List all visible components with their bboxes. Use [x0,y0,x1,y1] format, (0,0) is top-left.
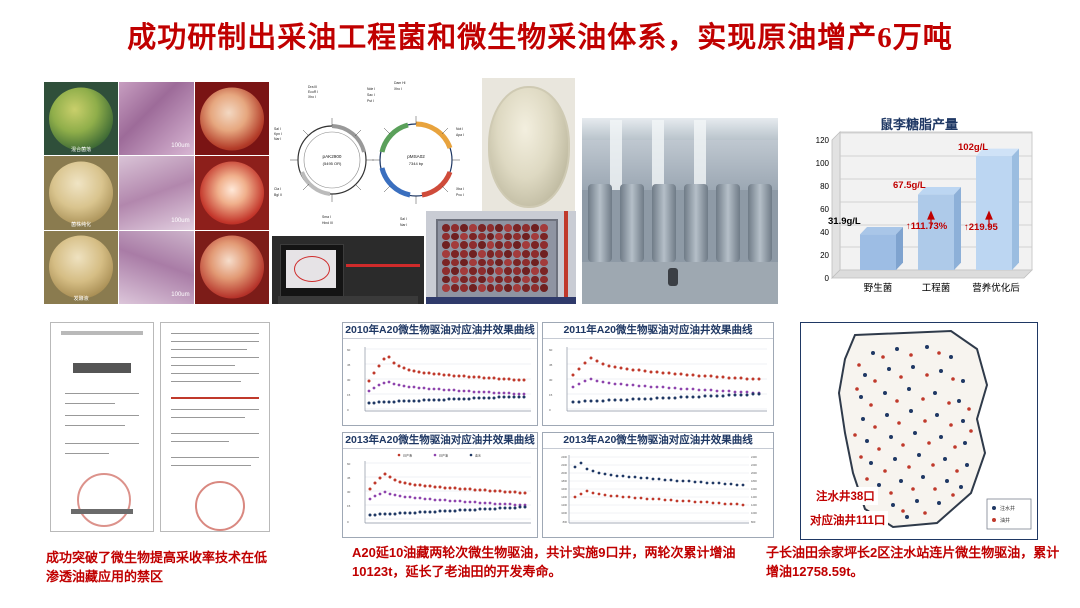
svg-text:15: 15 [549,393,553,397]
line-chart-title: 2010年A20微生物驱油对应油井效果曲线 [343,323,537,339]
svg-text:Bgl II: Bgl II [274,193,282,197]
svg-text:油井: 油井 [1000,517,1010,524]
svg-text:1600: 1600 [561,487,567,491]
svg-text:2000: 2000 [751,471,757,475]
svg-text:1000: 1000 [751,511,757,515]
certificate-documents [44,322,272,540]
svg-text:800: 800 [751,520,756,524]
svg-text:15: 15 [347,504,351,508]
svg-text:1000: 1000 [561,511,567,515]
svg-text:45: 45 [347,476,351,480]
well-performance-charts: 2010年A20微生物驱油对应油井效果曲线 [342,322,774,538]
scale-bar-label: 100um [171,292,189,298]
bar-value-label-0: 31.9g/L [828,216,861,227]
svg-text:pAK2900: pAK2900 [323,154,342,159]
svg-text:Apa I: Apa I [456,133,464,137]
svg-text:日产液: 日产液 [403,452,412,457]
plasmid-map-svg: pAK2900 (5495 OR) pMSA02 7344 bp Dra III… [272,68,478,234]
svg-text:30: 30 [549,378,553,382]
svg-text:1400: 1400 [561,495,567,499]
svg-text:EcoR I: EcoR I [308,90,318,94]
svg-text:Sal I: Sal I [400,217,407,221]
svg-text:含水: 含水 [475,452,481,457]
svg-text:20: 20 [820,251,829,260]
agar-plate-photo [482,78,575,216]
map-label-injection-wells: 注水井38口 [813,487,878,505]
svg-text:Dam HI: Dam HI [394,81,406,85]
svg-text:1800: 1800 [561,479,567,483]
svg-text:Xho I: Xho I [394,87,402,91]
line-chart-2010: 2010年A20微生物驱油对应油井效果曲线 [342,322,538,426]
bar-category-label-2: 营养优化后 [960,280,1032,294]
svg-text:45: 45 [347,363,351,367]
caption-left: 成功突破了微生物提高采收率技术在低渗透油藏应用的禁区 [46,548,278,586]
chart-svg: 02040 6080100 120 [800,110,1038,306]
svg-text:60: 60 [549,348,553,352]
line-chart-title: 2013年A20微生物驱油对应油井效果曲线 [343,433,537,449]
svg-text:7344 bp: 7344 bp [409,161,424,166]
chart-title: 鼠李糖脂产量 [800,114,1038,133]
svg-text:30: 30 [347,378,351,382]
svg-text:800: 800 [563,520,568,524]
microplate-photo [426,211,576,304]
photo-caption: 菌株纯化 [44,221,118,228]
svg-text:Pvu I: Pvu I [456,193,464,197]
bar-value-label-1: 67.5g/L [893,180,926,191]
document-page-right [160,322,270,532]
svg-text:(5495 OR): (5495 OR) [323,161,342,166]
svg-text:2200: 2200 [561,463,567,467]
photo-caption: 发酵液 [44,295,118,302]
photo-cell [195,156,269,229]
svg-text:Sac I: Sac I [367,93,375,97]
svg-text:1400: 1400 [751,495,757,499]
svg-text:Xho I: Xho I [308,95,316,99]
plasmid-map-figure: pAK2900 (5495 OR) pMSA02 7344 bp Dra III… [272,68,478,234]
bar-category-label-0: 野生菌 [846,280,910,294]
line-chart-title: 2011年A20微生物驱油对应油井效果曲线 [543,323,773,339]
svg-text:Not I: Not I [456,127,463,131]
svg-text:日产油: 日产油 [439,452,448,457]
photo-grid: 混合菌落 100um 菌株纯化 100um 发酵液 100um [44,82,269,304]
svg-text:0: 0 [347,408,349,412]
map-svg: 注水井 油井 [801,323,1037,539]
caption-middle: A20延10油藏两轮次微生物驱油，共计实施9口井，两轮次累计增油10123t，延… [352,543,756,581]
photo-cell [195,231,269,304]
line-chart-2013-b: 2013年A20微生物驱油对应油井效果曲线 [542,432,774,538]
svg-text:0: 0 [549,408,551,412]
bar-increase-label-1: ↑111.73% [906,222,946,232]
svg-text:60: 60 [820,205,829,214]
svg-text:40: 40 [820,228,829,237]
svg-text:2400: 2400 [751,455,757,459]
svg-text:2000: 2000 [561,471,567,475]
svg-text:Nar I: Nar I [400,223,407,227]
svg-text:Kpn I: Kpn I [274,132,282,136]
svg-text:1200: 1200 [561,503,567,507]
oilfield-well-map: 注水井 油井 注水井38口 对应油井111口 [800,322,1038,540]
svg-text:2200: 2200 [751,463,757,467]
line-chart-svg: 604530150 [343,339,537,425]
scale-bar-label: 100um [171,218,189,224]
line-chart-2011: 2011年A20微生物驱油对应油井效果曲线 [542,322,774,426]
svg-text:Sal I: Sal I [274,127,281,131]
photo-cell: 100um [119,231,193,304]
svg-text:Dra III: Dra III [308,85,317,89]
page-title: 成功研制出采油工程菌和微生物采油体系，实现原油增产6万吨 [0,14,1080,56]
photo-caption: 混合菌落 [44,146,118,153]
line-chart-2013-a: 2013年A20微生物驱油对应油井效果曲线 日产液 日产油 含水 [342,432,538,538]
svg-text:30: 30 [347,490,351,494]
photo-cell: 100um [119,82,193,155]
photo-cell: 100um [119,156,193,229]
photo-cell: 菌株纯化 [44,156,118,229]
svg-text:2400: 2400 [561,455,567,459]
svg-text:80: 80 [820,182,829,191]
svg-text:0: 0 [825,274,830,283]
line-chart-svg: 日产液 日产油 含水 [343,449,537,537]
line-chart-svg: 240022002000 180016001400 12001000800 24… [543,449,773,537]
svg-text:1200: 1200 [751,503,757,507]
svg-text:Sma I: Sma I [322,215,331,219]
bar-increase-label-2: ↑219.95 [964,222,1014,233]
bar-category-label-1: 工程菌 [904,280,968,294]
svg-text:1600: 1600 [751,487,757,491]
line-chart-title: 2013年A20微生物驱油对应油井效果曲线 [543,433,773,449]
bar-value-label-2: 102g/L [958,142,988,153]
svg-text:60: 60 [347,348,351,352]
svg-text:Xba I: Xba I [456,187,464,191]
caption-right: 子长油田余家坪长2区注水站连片微生物驱油，累计增油12758.59t。 [766,543,1066,581]
svg-text:pMSA02: pMSA02 [407,154,425,159]
document-page-left [50,322,154,532]
fermentation-hall-photo [582,118,778,304]
svg-text:100: 100 [816,159,830,168]
line-chart-svg: 604530150 [543,339,773,425]
svg-text:Nde I: Nde I [367,87,375,91]
photo-cell: 混合菌落 [44,82,118,155]
photo-cell [195,82,269,155]
svg-text:1800: 1800 [751,479,757,483]
photo-cell: 发酵液 [44,231,118,304]
svg-text:Nar I: Nar I [274,137,281,141]
map-label-oil-wells: 对应油井111口 [807,511,888,529]
svg-text:120: 120 [816,136,830,145]
rhamnolipid-bar-chart: 鼠李糖脂产量 02040 6080100 120 [800,110,1038,306]
svg-text:Cla I: Cla I [274,187,281,191]
svg-text:注水井: 注水井 [1000,505,1015,512]
svg-text:Hind III: Hind III [322,221,333,225]
svg-text:Pst I: Pst I [367,99,374,103]
svg-text:60: 60 [347,462,351,466]
instrument-photo [272,236,424,304]
svg-text:45: 45 [549,363,553,367]
scale-bar-label: 100um [171,143,189,149]
svg-text:0: 0 [347,520,349,524]
svg-text:15: 15 [347,393,351,397]
